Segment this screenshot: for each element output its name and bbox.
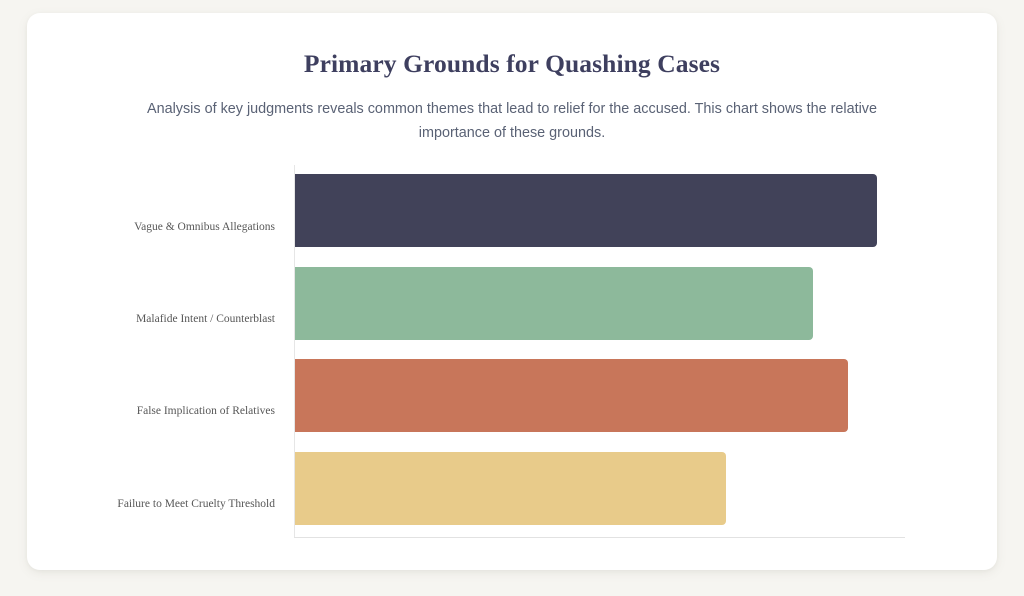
bar-failure-to-meet-cruelty-threshold[interactable] bbox=[295, 452, 726, 525]
y-axis-tick-label: False Implication of Relatives bbox=[27, 405, 275, 417]
bar-row bbox=[295, 174, 905, 247]
y-axis-tick-label: Malafide Intent / Counterblast bbox=[27, 313, 275, 325]
chart-title: Primary Grounds for Quashing Cases bbox=[27, 49, 997, 79]
bar-row bbox=[295, 267, 905, 340]
plot-area bbox=[294, 165, 905, 538]
y-axis-tick-labels: Vague & Omnibus Allegations Malafide Int… bbox=[27, 174, 285, 547]
bar-vague-omnibus-allegations[interactable] bbox=[295, 174, 877, 247]
bar-row bbox=[295, 359, 905, 432]
bar-series bbox=[295, 174, 905, 537]
bar-false-implication-of-relatives[interactable] bbox=[295, 359, 848, 432]
chart-subtitle: Analysis of key judgments reveals common… bbox=[132, 97, 892, 145]
bar-row bbox=[295, 452, 905, 525]
chart-card: Primary Grounds for Quashing Cases Analy… bbox=[27, 13, 997, 570]
y-axis-tick-label: Vague & Omnibus Allegations bbox=[27, 221, 275, 233]
y-axis-tick-label: Failure to Meet Cruelty Threshold bbox=[27, 498, 275, 510]
x-axis-line bbox=[294, 537, 905, 538]
bar-malafide-intent-counterblast[interactable] bbox=[295, 267, 813, 340]
